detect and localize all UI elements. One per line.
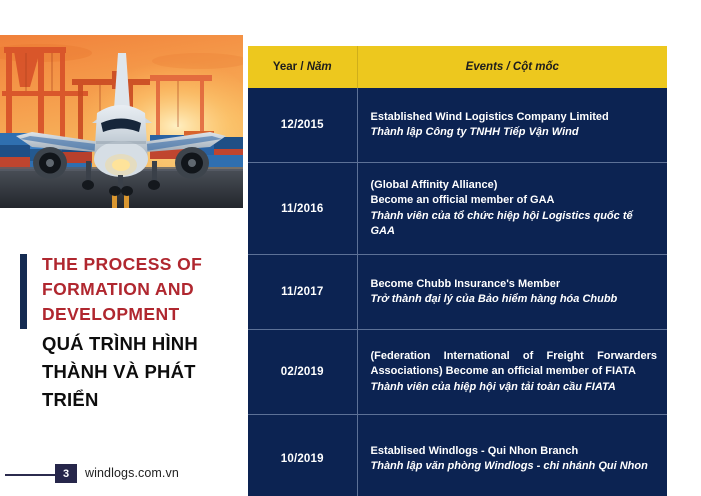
event-line: Trở thành đại lý của Bảo hiểm hàng hóa C… [371,292,658,308]
cell-year: 11/2016 [248,163,357,255]
milestones-table: Year / Năm Events / Cột mốc 12/2015Estab… [248,46,667,496]
event-line: (Global Affinity Alliance) [371,178,658,194]
footer-website: windlogs.com.vn [85,466,179,480]
cell-year: 10/2019 [248,415,357,496]
cell-year: 02/2019 [248,330,357,415]
event-line: (Federation International of Freight For… [371,349,658,380]
table-header-row: Year / Năm Events / Cột mốc [248,46,667,88]
column-header-year: Year / Năm [248,46,357,88]
footer-rule [5,474,55,476]
cell-event: Establised Windlogs - Qui Nhon BranchThà… [357,415,667,496]
table-row: 12/2015Established Wind Logistics Compan… [248,88,667,163]
event-line: Become an official member of GAA [371,193,658,209]
event-line: Become Chubb Insurance's Member [371,277,658,293]
cell-year: 11/2017 [248,255,357,330]
page-title-vietnamese: QUÁ TRÌNH HÌNH THÀNH VÀ PHÁT TRIỂN [42,330,242,414]
cell-event: Established Wind Logistics Company Limit… [357,88,667,163]
page-number-badge: 3 [55,464,77,483]
event-line: Thành lập Công ty TNHH Tiếp Vận Wind [371,125,658,141]
cargo-airplane-photo [0,35,243,208]
photo-artwork [0,35,243,208]
table-row: 02/2019(Federation International of Frei… [248,330,667,415]
column-header-events: Events / Cột mốc [357,46,667,88]
cell-event: (Global Affinity Alliance)Become an offi… [357,163,667,255]
slide-canvas: THE PROCESS OF FORMATION AND DEVELOPMENT… [0,0,701,496]
event-line: Thành viên của tổ chức hiệp hội Logistic… [371,209,658,240]
event-line: Thành lập văn phòng Windlogs - chi nhánh… [371,459,658,475]
table-header: Year / Năm Events / Cột mốc [248,46,667,88]
table-body: 12/2015Established Wind Logistics Compan… [248,88,667,496]
table-row: 10/2019Establised Windlogs - Qui Nhon Br… [248,415,667,496]
cell-year: 12/2015 [248,88,357,163]
event-line: Thành viên của hiệp hội vận tải toàn cầu… [371,380,658,396]
column-header-events-vi: Cột mốc [513,61,559,73]
cell-event: (Federation International of Freight For… [357,330,667,415]
column-header-events-en: Events / [466,61,513,73]
title-accent-bar [20,254,27,329]
cell-event: Become Chubb Insurance's MemberTrở thành… [357,255,667,330]
table-row: 11/2017Become Chubb Insurance's MemberTr… [248,255,667,330]
event-line: Establised Windlogs - Qui Nhon Branch [371,444,658,460]
table-row: 11/2016(Global Affinity Alliance)Become … [248,163,667,255]
column-header-year-en: Year / [273,61,307,73]
page-title-english: THE PROCESS OF FORMATION AND DEVELOPMENT [42,252,237,327]
event-line: Established Wind Logistics Company Limit… [371,110,658,126]
column-header-year-vi: Năm [307,61,332,73]
